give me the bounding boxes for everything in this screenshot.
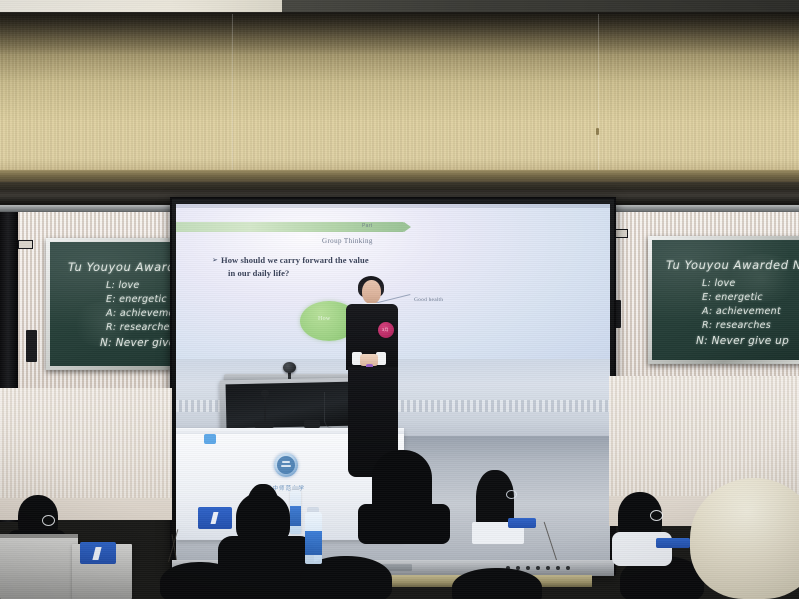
microphone-stem (264, 394, 266, 424)
right-board-line-2: E: energetic (702, 292, 763, 303)
right-blackboard: Tu Youyou Awarded Nob L: love E: energet… (648, 236, 799, 364)
presenter-badge-label: 3月 (382, 327, 389, 333)
leader-label: Good health (414, 297, 443, 303)
wall-label-plate (18, 240, 33, 249)
panel-control-dot[interactable] (546, 566, 550, 570)
panel-control-dot[interactable] (566, 566, 570, 570)
presenter-head (362, 280, 381, 304)
chair-back-right (656, 538, 690, 548)
feed-chair-back (508, 518, 536, 528)
seal-mark (281, 465, 291, 467)
idea-bubble-label: How (318, 316, 331, 322)
wall-fixing (596, 128, 599, 135)
left-board-line-4: R: researches (106, 322, 175, 333)
right-board-title: Tu Youyou Awarded Nob (666, 258, 799, 272)
ceiling-shadow (0, 12, 799, 54)
glasses-icon (42, 515, 55, 526)
podium-indicator (204, 434, 216, 444)
bullet-icon: ➢ (212, 256, 218, 264)
slide-question-line-2: in our daily life? (228, 267, 289, 279)
cable (324, 392, 343, 428)
right-board-line-5: N: Never give up (696, 335, 789, 347)
glasses-icon (506, 490, 517, 499)
panel-control-dot[interactable] (526, 566, 530, 570)
room-slats-left (0, 388, 172, 498)
bottle-label (305, 531, 322, 555)
microphone-icon (261, 390, 269, 397)
glasses-icon (650, 510, 663, 521)
panel-control-dot[interactable] (536, 566, 540, 570)
audience-head-front-left (160, 562, 240, 599)
desk-left (0, 534, 78, 599)
ribbon-arrow-icon (404, 222, 411, 232)
feed-bottle-label (290, 506, 301, 526)
feed-foreground-shoulders (358, 504, 450, 544)
wall-bracket (26, 330, 37, 362)
desk-device (304, 420, 320, 428)
wall-seam (598, 14, 599, 178)
right-board-line-4: R: researches (702, 320, 771, 331)
camera-icon (283, 362, 296, 373)
audience-head-front-right (452, 568, 542, 599)
right-board-line-1: L: love (702, 278, 736, 289)
left-board-line-2: E: energetic (106, 294, 167, 305)
ribbon-label: Part (362, 223, 372, 229)
desk-edge (0, 534, 78, 538)
seal-mark (282, 461, 290, 463)
left-board-line-1: L: love (106, 280, 140, 291)
university-seal-icon (274, 453, 298, 477)
right-blackboard-surface: Tu Youyou Awarded Nob L: love E: energet… (652, 240, 799, 360)
slide-heading: Group Thinking (322, 237, 373, 245)
classroom-scene: Tu Youyou Awarded Nobel Prize L: love E:… (0, 0, 799, 599)
right-board-line-3: A: achievement (702, 306, 781, 317)
slide-question-line-1: How should we carry forward the value (221, 254, 369, 266)
audience-head-blonde (690, 478, 799, 599)
wall-seam (232, 14, 233, 178)
room-slats-right (609, 376, 799, 496)
panel-control-dot[interactable] (556, 566, 560, 570)
slide-top-edge (176, 204, 610, 208)
